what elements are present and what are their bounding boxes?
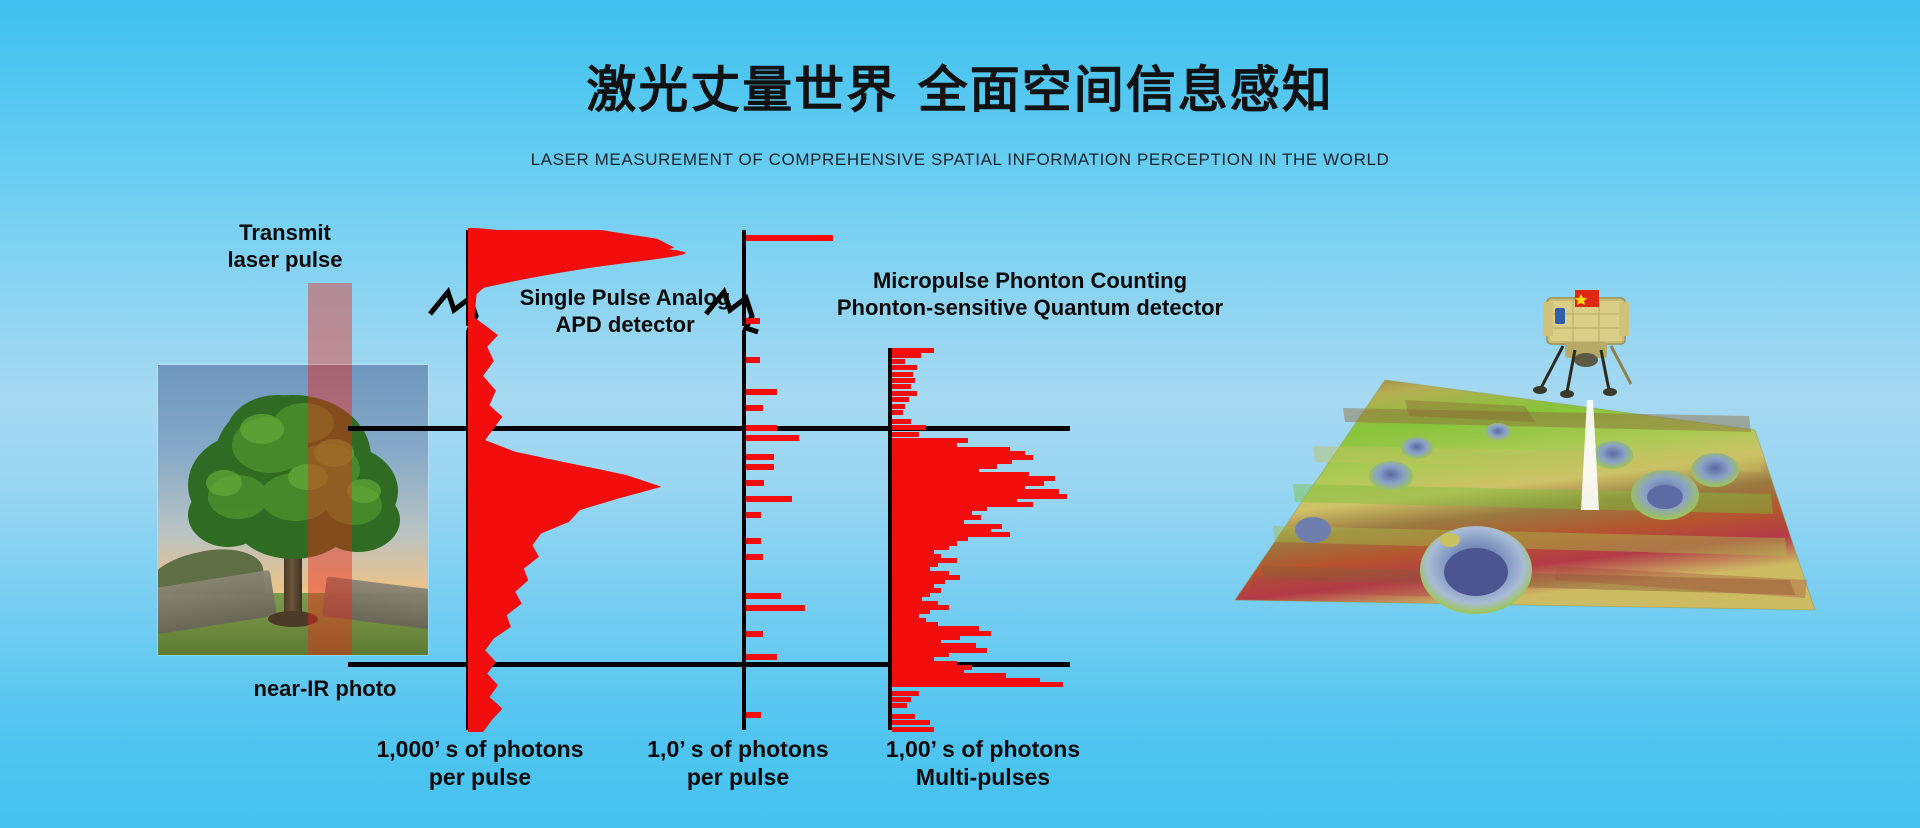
photo-tree-canopy (158, 365, 428, 655)
histogram-bar (746, 454, 774, 460)
histogram-bar (746, 318, 760, 324)
histogram-bar (892, 714, 915, 719)
histogram-bar (892, 691, 919, 696)
caption-1-line2: per pulse (355, 763, 605, 791)
histogram-bar (892, 348, 934, 353)
histogram-bar (746, 631, 763, 637)
histogram-bar (892, 404, 905, 409)
caption-3-line1: 1,00’ s of photons (868, 735, 1098, 763)
histogram-bar (746, 554, 763, 560)
histogram-bar (746, 538, 761, 544)
histogram-bar (892, 410, 903, 415)
histogram-bar (746, 480, 764, 486)
transmit-label-line2: laser pulse (205, 247, 365, 274)
histogram-bar (892, 419, 911, 424)
histogram-bar (892, 397, 909, 402)
laser-beam-over-photo (308, 365, 352, 655)
histogram-bar (892, 353, 921, 358)
histogram-bar (892, 372, 913, 377)
histogram-bar (892, 359, 905, 364)
histogram-bar (746, 435, 799, 441)
page-title: 激光丈量世界 全面空间信息感知 (0, 50, 1920, 122)
histogram-bar (892, 682, 1063, 687)
infographic-canvas: 激光丈量世界 全面空间信息感知 LASER MEASUREMENT OF COM… (0, 0, 1920, 828)
histogram-bar (892, 425, 926, 430)
histogram-bar (892, 720, 930, 725)
histogram-bar (892, 378, 915, 383)
histogram-bar (892, 727, 934, 732)
histogram-bar (746, 235, 833, 241)
detector-b-line1: Micropulse Phonton Counting (820, 268, 1240, 295)
page-subtitle: LASER MEASUREMENT OF COMPREHENSIVE SPATI… (0, 150, 1920, 170)
detector-b-line2: Phonton-sensitive Quantum detector (820, 295, 1240, 322)
histogram-bar (746, 593, 781, 599)
caption-2-line1: 1,0’ s of photons (628, 735, 848, 763)
histogram-bar (892, 432, 919, 437)
lunar-lander (1513, 280, 1643, 400)
plot3-high-count-histogram (892, 348, 1082, 734)
near-ir-photo-label: near-IR photo (210, 676, 440, 703)
histogram-bar (746, 712, 761, 718)
near-ir-tree-photo (158, 365, 428, 655)
histogram-bar (746, 405, 763, 411)
caption-3-line2: Multi-pulses (868, 763, 1098, 791)
transmit-laser-pulse-label: Transmit laser pulse (205, 220, 365, 274)
histogram-bar (892, 365, 917, 370)
histogram-bar (746, 464, 774, 470)
histogram-bar (746, 389, 777, 395)
caption-2-line2: per pulse (628, 763, 848, 791)
caption-1-line1: 1,000’ s of photons (355, 735, 605, 763)
histogram-bar (892, 384, 911, 389)
laser-beam-upper (308, 283, 352, 369)
histogram-bar (746, 357, 760, 363)
terrain-visualization (1195, 280, 1895, 750)
histogram-bar (892, 697, 911, 702)
histogram-bar (892, 391, 917, 396)
histogram-bar (746, 425, 777, 431)
histogram-bar (746, 605, 805, 611)
histogram-bar (746, 496, 792, 502)
histogram-bar (746, 654, 777, 660)
caption-3: 1,00’ s of photons Multi-pulses (868, 735, 1098, 791)
histogram-bar (892, 703, 907, 708)
histogram-bar (746, 512, 761, 518)
transmit-label-line1: Transmit (205, 220, 365, 247)
detector-b-label: Micropulse Phonton Counting Phonton-sens… (820, 268, 1240, 322)
caption-1: 1,000’ s of photons per pulse (355, 735, 605, 791)
caption-2: 1,0’ s of photons per pulse (628, 735, 848, 791)
